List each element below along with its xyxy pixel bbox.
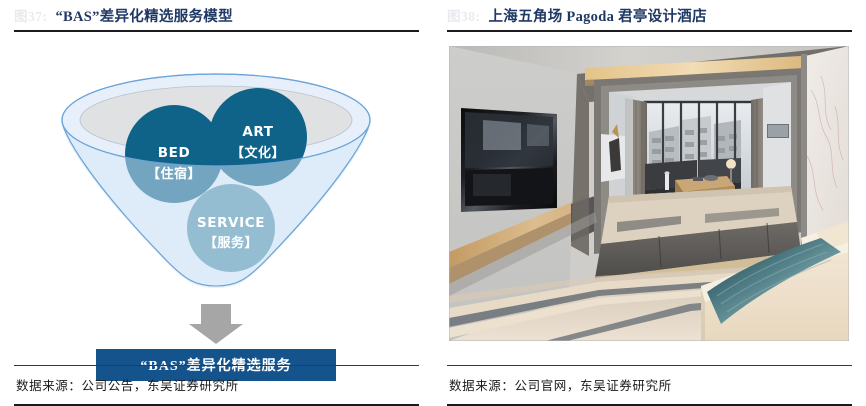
right-figure-footer: 数据来源：公司官网，东吴证券研究所 — [447, 365, 852, 406]
left-figure-title: “BAS”差异化精选服务模型 — [56, 5, 233, 26]
left-figure-header: 图37: “BAS”差异化精选服务模型 — [14, 0, 419, 30]
right-figure-content — [447, 32, 852, 366]
right-source-text: 数据来源：公司官网，东吴证券研究所 — [447, 366, 852, 394]
down-arrow-icon — [189, 304, 243, 344]
left-figure-content: BED 【住宿】 ART 【文化】 SERVICE 【服务】 “BAS”差异化精… — [14, 32, 419, 366]
figure-pair-page: 图37: “BAS”差异化精选服务模型 — [0, 0, 866, 406]
left-figure-number: 图37: — [14, 5, 48, 25]
hotel-room-photo — [449, 46, 849, 341]
right-figure-number: 图38: — [447, 5, 481, 25]
right-figure-panel: 图38: 上海五角场 Pagoda 君亭设计酒店 — [433, 0, 866, 406]
right-figure-header: 图38: 上海五角场 Pagoda 君亭设计酒店 — [447, 0, 852, 30]
left-source-text: 数据来源：公司公告，东吴证券研究所 — [14, 366, 419, 394]
left-figure-footer: 数据来源：公司公告，东吴证券研究所 — [14, 365, 419, 406]
left-figure-panel: 图37: “BAS”差异化精选服务模型 — [0, 0, 433, 406]
right-figure-title: 上海五角场 Pagoda 君亭设计酒店 — [489, 5, 707, 26]
bas-funnel-diagram: BED 【住宿】 ART 【文化】 SERVICE 【服务】 “BAS”差异化精… — [14, 32, 419, 366]
